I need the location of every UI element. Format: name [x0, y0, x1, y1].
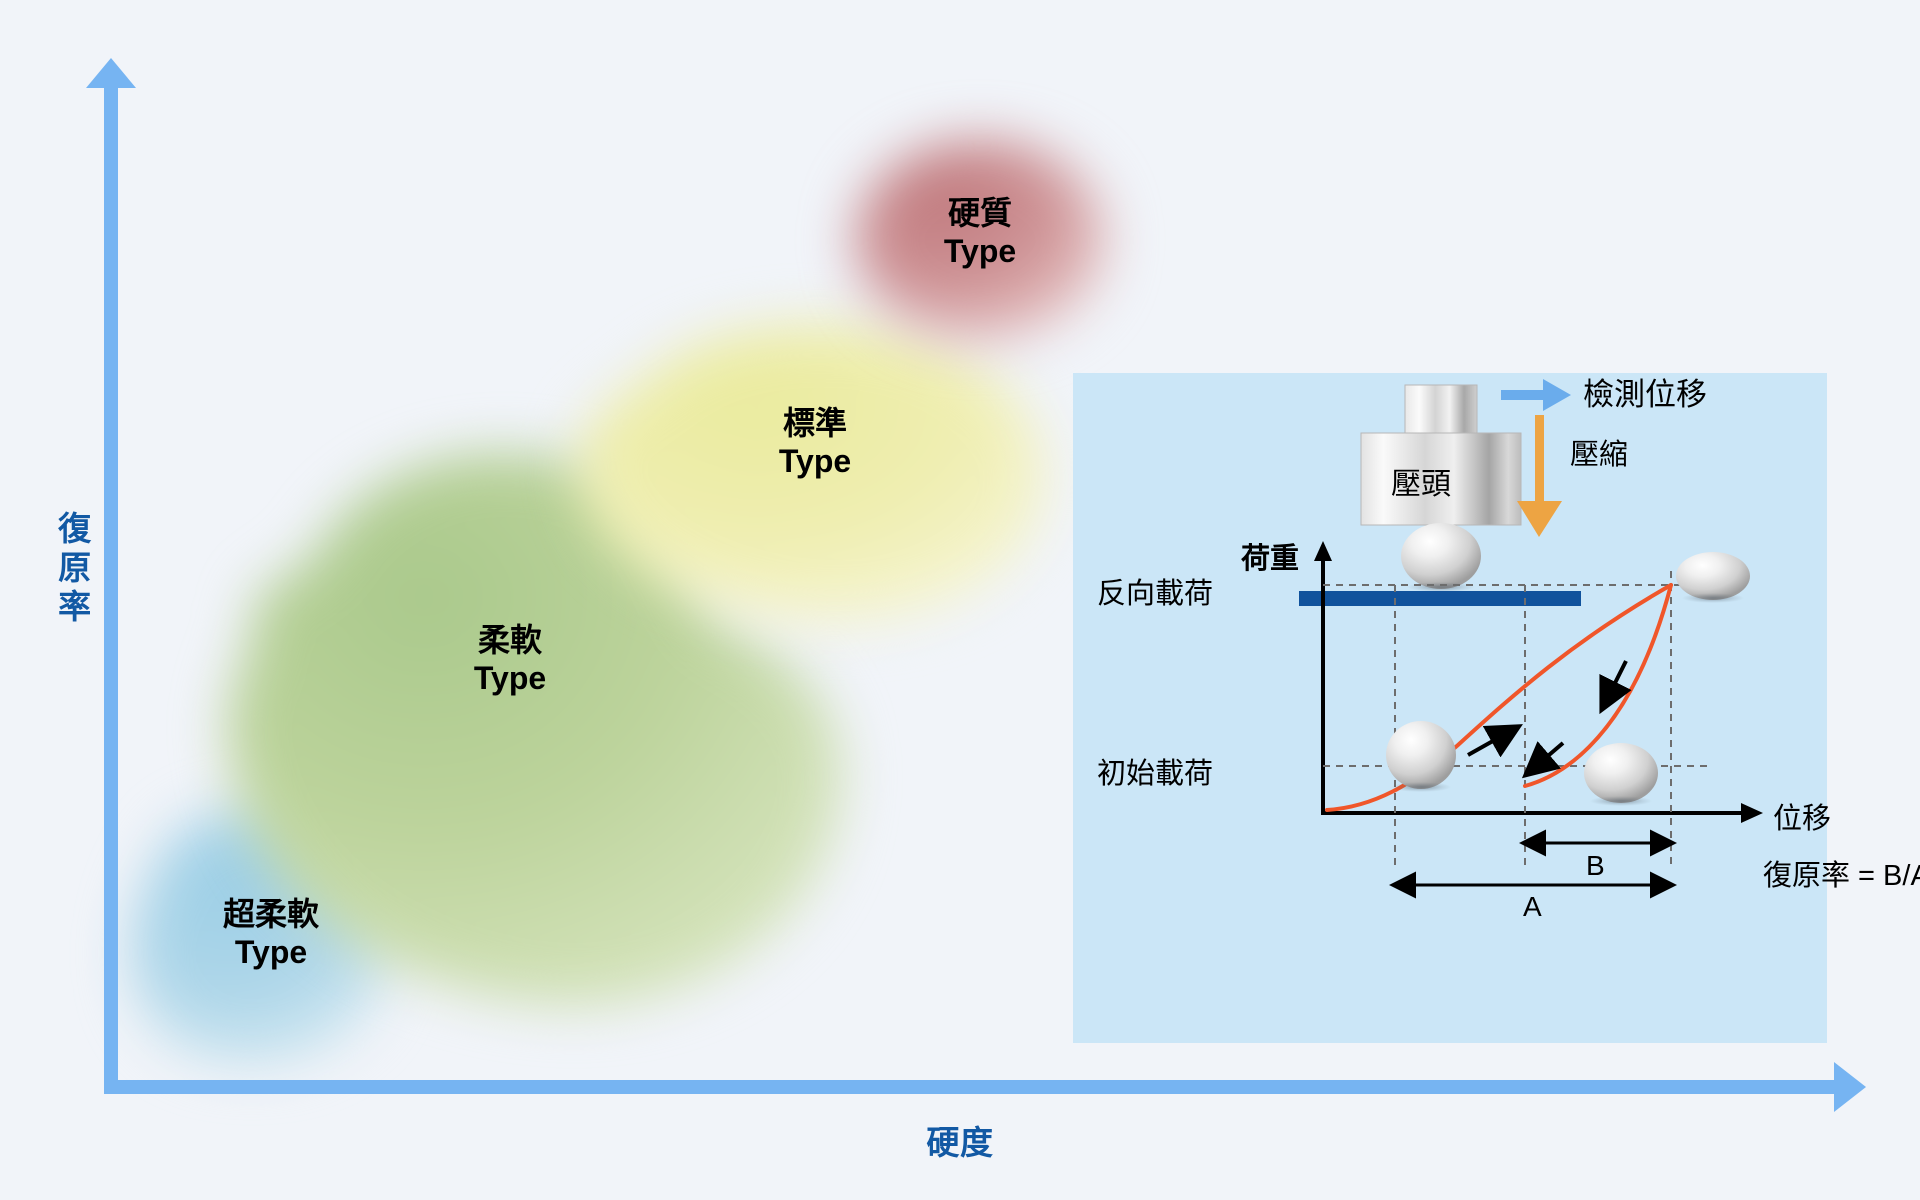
compression-label: 壓縮: [1570, 431, 1628, 473]
initial-load-label: 初始載荷: [1097, 750, 1213, 792]
span-b-label: B: [1586, 850, 1605, 882]
y-axis-char-2: 原: [40, 549, 110, 588]
recovery-formula-label: 復原率 = B/A: [1763, 852, 1920, 894]
blob-hard-line2: Type: [880, 233, 1080, 271]
blob-label-standard: 標準 Type: [715, 405, 915, 481]
blob-label-hard: 硬質 Type: [880, 195, 1080, 271]
blob-ultrasoft-line1: 超柔軟: [166, 896, 376, 934]
span-a-label: A: [1523, 891, 1542, 923]
reverse-load-label: 反向載荷: [1097, 570, 1213, 612]
x-axis-label: 硬度: [0, 1116, 1920, 1164]
blob-soft-line1: 柔軟: [410, 622, 610, 660]
detect-displacement-label: 檢測位移: [1583, 369, 1707, 414]
diagram-canvas: 硬質 Type 標準 Type 柔軟 Type 超柔軟 Type 復 原: [0, 0, 1920, 1200]
blob-standard-line1: 標準: [715, 405, 915, 443]
blob-label-ultrasoft: 超柔軟 Type: [166, 896, 376, 972]
y-axis-char-1: 復: [40, 510, 110, 549]
blob-hard-line1: 硬質: [880, 195, 1080, 233]
detect-displacement-arrow-icon: [1501, 379, 1571, 411]
blob-standard-line2: Type: [715, 443, 915, 481]
blob-ultrasoft-line2: Type: [166, 934, 376, 972]
indenter-label: 壓頭: [1391, 459, 1451, 503]
compression-arrow-icon: [1517, 415, 1562, 537]
y-axis-label: 復 原 率: [40, 510, 110, 627]
y-axis-char-3: 率: [40, 588, 110, 627]
load-axis-label: 荷重: [1241, 535, 1299, 577]
displacement-axis-label: 位移: [1773, 795, 1831, 837]
blob-label-soft: 柔軟 Type: [410, 622, 610, 698]
blob-soft-line2: Type: [410, 660, 610, 698]
indentation-test-inset-panel: 檢測位移 壓縮 壓頭 荷重 反向載荷 初始載荷 位移 B A 復原率 = B/A: [1073, 373, 1827, 1043]
